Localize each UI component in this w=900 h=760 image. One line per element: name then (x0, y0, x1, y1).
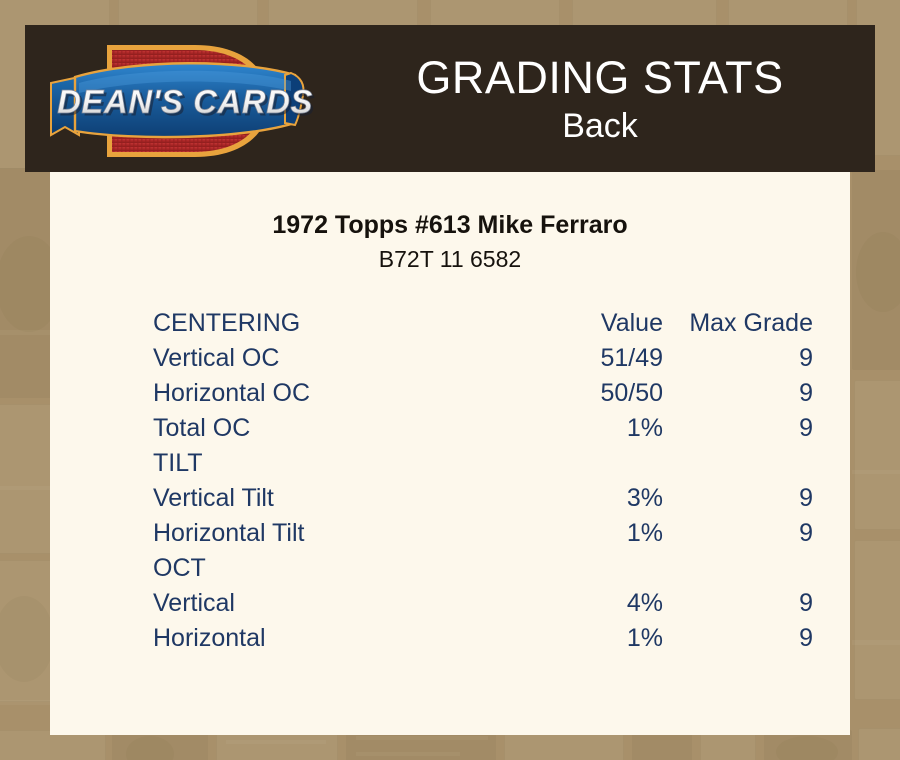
stat-value: 50/50 (493, 376, 663, 411)
header-title-group: GRADING STATS Back (325, 25, 875, 172)
card-heading: 1972 Topps #613 Mike Ferraro B72T 11 658… (50, 210, 850, 274)
page-title: GRADING STATS (416, 52, 783, 104)
table-body: Vertical OC 51/49 9 Horizontal OC 50/50 … (153, 341, 813, 656)
table-row: Vertical Tilt 3% 9 (153, 481, 813, 516)
deans-cards-logo[interactable]: DEAN'S CARDS DEAN'S CARDS (45, 31, 315, 171)
grading-stats-table: CENTERING Value Max Grade Vertical OC 51… (153, 306, 813, 656)
section-spacer (663, 551, 813, 586)
section-header-row-tilt: TILT (153, 446, 813, 481)
section-spacer (663, 446, 813, 481)
table-row: Horizontal 1% 9 (153, 621, 813, 656)
page-subtitle: Back (562, 106, 638, 146)
stat-value: 3% (493, 481, 663, 516)
stat-value: 4% (493, 586, 663, 621)
stat-label: Vertical Tilt (153, 481, 493, 516)
content-panel: 1972 Topps #613 Mike Ferraro B72T 11 658… (50, 172, 850, 735)
table-row: Total OC 1% 9 (153, 411, 813, 446)
section-spacer (493, 446, 663, 481)
stat-label: Horizontal Tilt (153, 516, 493, 551)
stat-max-grade: 9 (663, 481, 813, 516)
table-row: Vertical 4% 9 (153, 586, 813, 621)
header-bar: DEAN'S CARDS DEAN'S CARDS GRADING STATS … (25, 25, 875, 172)
table-row: Horizontal OC 50/50 9 (153, 376, 813, 411)
stat-max-grade: 9 (663, 621, 813, 656)
svg-text:DEAN'S CARDS: DEAN'S CARDS (57, 83, 313, 120)
stat-max-grade: 9 (663, 341, 813, 376)
section-title-oct: OCT (153, 551, 493, 586)
card-title: 1972 Topps #613 Mike Ferraro (50, 210, 850, 240)
stat-value: 1% (493, 516, 663, 551)
table-head: CENTERING Value Max Grade (153, 306, 813, 341)
table-row: Vertical OC 51/49 9 (153, 341, 813, 376)
stat-max-grade: 9 (663, 586, 813, 621)
stat-value: 1% (493, 621, 663, 656)
stat-max-grade: 9 (663, 376, 813, 411)
stat-label: Vertical (153, 586, 493, 621)
stat-max-grade: 9 (663, 411, 813, 446)
stat-value: 1% (493, 411, 663, 446)
stat-value: 51/49 (493, 341, 663, 376)
column-header-max-grade: Max Grade (663, 306, 813, 341)
page-root: DEAN'S CARDS DEAN'S CARDS GRADING STATS … (0, 0, 900, 760)
table-row: Horizontal Tilt 1% 9 (153, 516, 813, 551)
stat-label: Horizontal OC (153, 376, 493, 411)
stat-label: Total OC (153, 411, 493, 446)
stat-label: Vertical OC (153, 341, 493, 376)
section-spacer (493, 551, 663, 586)
card-serial: B72T 11 6582 (50, 244, 850, 274)
section-title-tilt: TILT (153, 446, 493, 481)
column-header-centering: CENTERING (153, 306, 493, 341)
stat-label: Horizontal (153, 621, 493, 656)
section-header-row-oct: OCT (153, 551, 813, 586)
column-header-value: Value (493, 306, 663, 341)
stat-max-grade: 9 (663, 516, 813, 551)
table-header-row: CENTERING Value Max Grade (153, 306, 813, 341)
